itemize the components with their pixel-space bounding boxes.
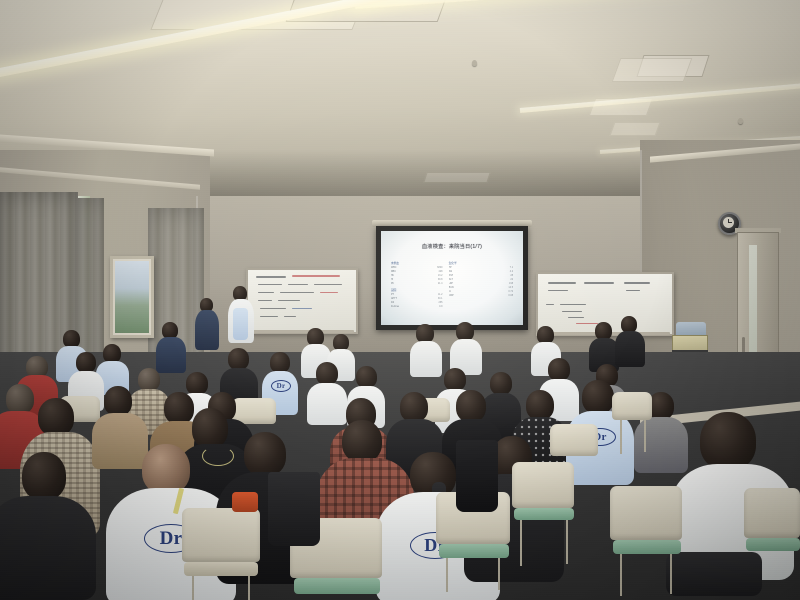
pull-down-projection-screen: 血液検査：来院当日(1/7) 末梢血 WBC6800 RBC428 Hb13.2… xyxy=(376,226,528,330)
slide-row-value: 4.2 xyxy=(510,270,513,273)
slide-row-value: 11.2 xyxy=(438,293,442,296)
orange-bag xyxy=(232,492,258,512)
slide-row-label: WBC xyxy=(391,266,397,269)
slide-row-label: D-dimer xyxy=(391,305,400,308)
slide-row: LDH198 xyxy=(449,282,513,285)
slide-row-label: RBC xyxy=(391,270,396,273)
draped-coat xyxy=(456,440,498,512)
sprinkler-head xyxy=(472,60,477,66)
clock-face xyxy=(723,217,734,228)
slide-row-value: 6800 xyxy=(437,266,442,269)
trousers xyxy=(666,552,762,596)
slide-row: Fib265 xyxy=(391,301,443,304)
projection-surface: 血液検査：来院当日(1/7) 末梢血 WBC6800 RBC428 Hb13.2… xyxy=(381,231,523,325)
slide-row-label: BUN xyxy=(449,286,454,289)
slide-row: D-dimer0.9 xyxy=(391,305,443,308)
slide-row-value: 0.08 xyxy=(508,294,513,297)
slide-row-value: 13.2 xyxy=(438,274,443,277)
left-whiteboard xyxy=(246,268,358,334)
slide-row-value: 39.8 xyxy=(438,278,443,281)
dr-logo: Dr xyxy=(271,380,291,392)
door-handle[interactable] xyxy=(742,337,745,353)
slide-row: RBC428 xyxy=(391,270,443,273)
slide-row: Cr0.72 xyxy=(449,290,513,293)
slide-row-label: TP xyxy=(449,266,452,269)
necklace xyxy=(202,446,234,466)
slide-row-label: APTT xyxy=(391,297,397,300)
slide-row: ALT22 xyxy=(449,278,513,281)
slide-row: TP7.1 xyxy=(449,266,513,269)
slide-row-label: LDH xyxy=(449,282,454,285)
slide-row-label: CRP xyxy=(449,294,454,297)
slide-row: Plt21.4 xyxy=(391,282,443,285)
slide-row: PT11.2 xyxy=(391,293,443,296)
slide-row: WBC6800 xyxy=(391,266,443,269)
photo-scene: 血液検査：来院当日(1/7) 末梢血 WBC6800 RBC428 Hb13.2… xyxy=(0,0,800,600)
framed-landscape-picture xyxy=(110,256,154,338)
slide-column-heading: 末梢血 xyxy=(391,261,443,265)
slide-row: Alb4.2 xyxy=(449,270,513,273)
slide-row: Hb13.2 xyxy=(391,274,443,277)
slide-row-value: 14.5 xyxy=(508,286,513,289)
ceiling-panel xyxy=(612,58,693,82)
slide-title: 血液検査：来院当日(1/7) xyxy=(381,243,523,250)
slide-row: AST28 xyxy=(449,274,513,277)
draped-coat xyxy=(268,472,320,546)
slide-row-label: AST xyxy=(449,274,454,277)
slide-row-label: Cr xyxy=(449,290,452,293)
slide-row-label: PT xyxy=(391,293,394,296)
slide-row-label: Plt xyxy=(391,282,394,285)
slide-row-value: 22 xyxy=(510,278,513,281)
slide-row: APTT30.1 xyxy=(391,297,443,300)
slide-row: CRP0.08 xyxy=(449,294,513,297)
whiteboard-marker-tray xyxy=(246,330,354,333)
slide-column-left: 末梢血 WBC6800 RBC428 Hb13.2 Ht39.8 Plt21.4… xyxy=(391,259,443,317)
slide-row-label: Fib xyxy=(391,301,394,304)
slide-column-right: 生化学 TP7.1 Alb4.2 AST28 ALT22 LDH198 BUN1… xyxy=(449,259,513,317)
slide-row-value: 198 xyxy=(509,282,513,285)
slide-row-label: ALT xyxy=(449,278,453,281)
slide-row-label: Hb xyxy=(391,274,394,277)
slide-column-heading: 生化学 xyxy=(449,261,513,265)
sprinkler-head xyxy=(738,118,743,124)
slide-row-value: 0.9 xyxy=(439,305,442,308)
slide-data-columns: 末梢血 WBC6800 RBC428 Hb13.2 Ht39.8 Plt21.4… xyxy=(391,259,513,317)
slide-row: BUN14.5 xyxy=(449,286,513,289)
slide-row-label: Alb xyxy=(449,270,452,273)
slide-row-value: 21.4 xyxy=(438,282,443,285)
slide-row-value: 265 xyxy=(439,301,443,304)
slide-row-value: 30.1 xyxy=(438,297,443,300)
slide-row: Ht39.8 xyxy=(391,278,443,281)
picture-image xyxy=(115,261,149,333)
slide-column-heading: 凝固 xyxy=(391,288,443,292)
clock-minute-hand xyxy=(728,222,732,223)
slide-row-label: Ht xyxy=(391,278,393,281)
slide-row-value: 7.1 xyxy=(510,266,513,269)
ceiling-panel xyxy=(609,122,660,136)
slide-row-value: 28 xyxy=(510,274,513,277)
slide-row-value: 0.72 xyxy=(508,290,513,293)
slide-row-value: 428 xyxy=(439,270,443,273)
